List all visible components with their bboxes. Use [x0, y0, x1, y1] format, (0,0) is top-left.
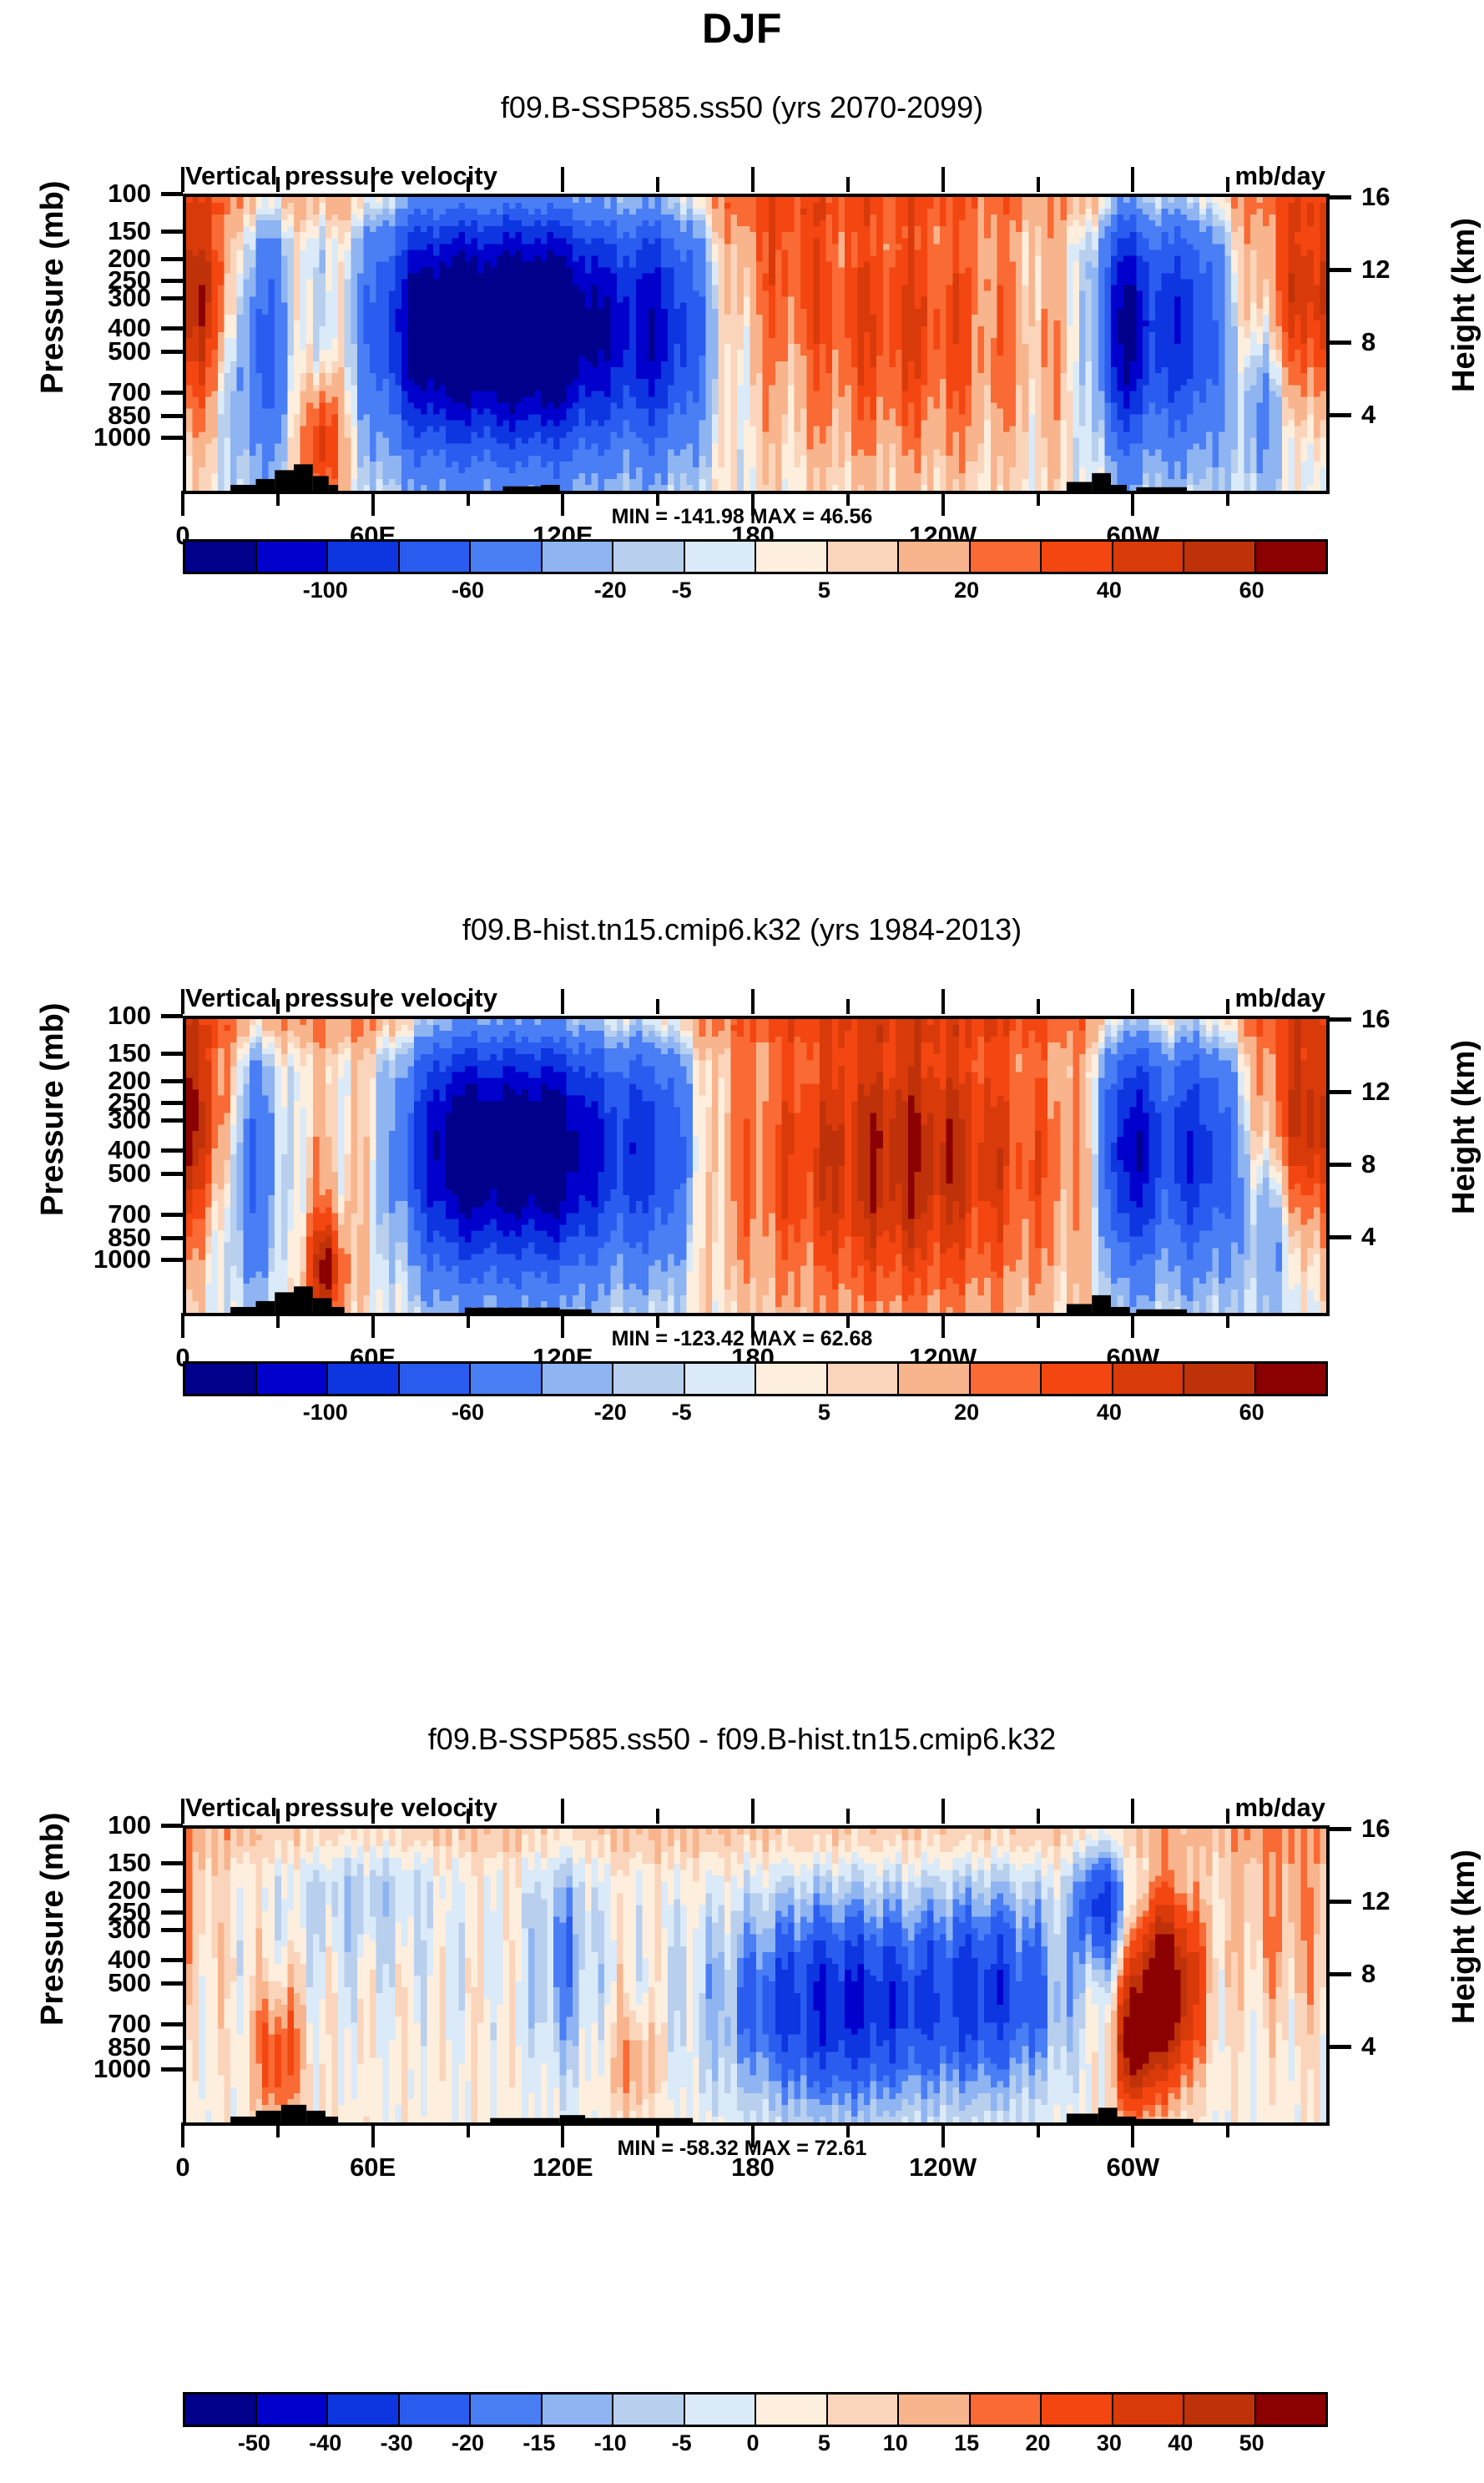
panel-2-xtick-minor-top [467, 999, 470, 1014]
panel-2-ytick-left [161, 1213, 183, 1217]
colorbar-tick-label: 20 [954, 1400, 979, 1426]
panel-2-colorbar[interactable] [183, 1361, 1328, 1396]
colorbar-tick-label: 30 [1097, 2430, 1122, 2456]
panel-3-ytick-left [161, 1889, 183, 1893]
colorbar-swatch [899, 1364, 971, 1394]
panel-1-xtick-minor-top [656, 177, 659, 192]
panel-1-ytick-label-left: 100 [8, 179, 151, 209]
panel-1-xtick-major-top [1131, 167, 1134, 192]
panel-2-title: f09.B-hist.tn15.cmip6.k32 (yrs 1984-2013… [0, 912, 1484, 947]
colorbar-swatch [471, 1364, 543, 1394]
panel-2-ytick-left [161, 1118, 183, 1123]
colorbar-swatch [828, 2395, 900, 2425]
panel-3-ytick-left [161, 1824, 183, 1828]
panel-3-ytick-left [161, 2067, 183, 2072]
panel-2-ytick-left [161, 1148, 183, 1153]
colorbar-swatch [1184, 542, 1256, 572]
panel-3-ytick-label-left: 1000 [8, 2054, 151, 2084]
colorbar-swatch [185, 2395, 257, 2425]
panel-3-xtick-major-top [1131, 1799, 1134, 1824]
colorbar-tick-label: -15 [522, 2430, 555, 2456]
colorbar-swatch [471, 542, 543, 572]
panel-2-xtick-minor [1037, 1313, 1040, 1328]
colorbar-swatch [1113, 2395, 1185, 2425]
colorbar-swatch [756, 1364, 828, 1394]
colorbar-swatch [971, 542, 1042, 572]
colorbar-tick-label: -100 [303, 578, 348, 603]
colorbar-swatch [328, 542, 400, 572]
panel-3-xtick-minor-top [846, 1809, 850, 1824]
colorbar-swatch [543, 542, 614, 572]
panel-3-ytick-left [161, 1981, 183, 1986]
panel-3-xtick-major-top [181, 1799, 184, 1824]
panel-2-ytick-label-left: 100 [8, 1001, 151, 1031]
panel-1-colorbar[interactable] [183, 539, 1328, 574]
colorbar-tick-label: 60 [1239, 1400, 1264, 1426]
panel-1-y-axis-title-right: Height (km) [1446, 218, 1482, 392]
panel-1-xtick-minor-top [1037, 177, 1040, 192]
panel-3-ytick-left [161, 1958, 183, 1962]
colorbar-swatch [400, 542, 472, 572]
panel-2-units-label: mb/day [1234, 983, 1325, 1013]
panel-3-xtick-minor-top [1037, 1809, 1040, 1824]
panel-1-ytick-label-right: 12 [1361, 255, 1390, 285]
colorbar-swatch [971, 2395, 1042, 2425]
panel-1-field-label: Vertical pressure velocity [185, 161, 497, 191]
panel-3-ytick-right [1330, 1972, 1351, 1976]
panel-3-ytick-label-left: 300 [8, 1915, 151, 1945]
colorbar-tick-label: -5 [672, 1400, 692, 1426]
panel-3-contour-field [186, 1829, 1326, 2122]
colorbar-tick-label: 40 [1097, 1400, 1122, 1426]
colorbar-swatch [685, 542, 757, 572]
panel-1-xtick-major-top [941, 167, 945, 192]
panel-3-xtick-minor [467, 2122, 470, 2137]
panel-2-xtick-major-top [1131, 989, 1134, 1014]
panel-1-ytick-right [1330, 341, 1351, 345]
panel-2-ytick-label-left: 500 [8, 1158, 151, 1189]
panel-1-ytick-label-left: 150 [8, 216, 151, 246]
colorbar-tick-label: -20 [594, 1400, 627, 1426]
colorbar-swatch [756, 542, 828, 572]
colorbar-tick-label: 10 [883, 2430, 908, 2456]
panel-1-xtick-minor-top [846, 177, 850, 192]
panel-3-xtick-major-top [371, 1799, 375, 1824]
colorbar-swatch [828, 1364, 900, 1394]
panel-1-ytick-left [161, 279, 183, 283]
panel-2-y-axis-title-right: Height (km) [1446, 1040, 1482, 1214]
panel-3-ytick-right [1330, 1827, 1351, 1831]
colorbar-swatch [400, 1364, 472, 1394]
panel-1-ytick-label-left: 300 [8, 283, 151, 313]
panel-1-ytick-left [161, 230, 183, 234]
panel-3-xtick-major-top [561, 1799, 564, 1824]
colorbar-swatch [1042, 1364, 1113, 1394]
colorbar-swatch [1256, 1364, 1326, 1394]
colorbar-swatch [1042, 542, 1113, 572]
panel-2-xtick-minor-top [1037, 999, 1040, 1014]
panel-3-y-axis-title-right: Height (km) [1446, 1850, 1482, 2024]
panel-3-ytick-label-left: 500 [8, 1968, 151, 1998]
panel-3-units-label: mb/day [1234, 1793, 1325, 1823]
colorbar-swatch [471, 2395, 543, 2425]
colorbar-tick-label: 5 [818, 1400, 830, 1426]
colorbar-swatch [899, 2395, 971, 2425]
panel-1-xtick-minor [1226, 491, 1229, 506]
panel-1-ytick-left [161, 192, 183, 196]
panel-1-ytick-label-right: 16 [1361, 182, 1390, 212]
panel-2-ytick-right [1330, 1163, 1351, 1167]
panel-1-ytick-label-right: 8 [1361, 327, 1375, 357]
colorbar-swatch [685, 2395, 757, 2425]
panel-1-xtick-minor-top [276, 177, 280, 192]
panel-2-xtick-minor [656, 1313, 659, 1328]
panel-2-xtick-major-top [371, 989, 375, 1014]
panel-1-xtick-minor [846, 491, 850, 506]
colorbar-swatch [828, 542, 900, 572]
panel-1-xtick-minor-top [1226, 177, 1229, 192]
colorbar-swatch [543, 1364, 614, 1394]
panel-3-xtick-minor-top [276, 1809, 280, 1824]
panel-3-ytick-left [161, 1861, 183, 1865]
colorbar-swatch [613, 2395, 685, 2425]
panel-3-xtick-minor [1037, 2122, 1040, 2137]
panel-1-ytick-left [161, 350, 183, 354]
panel-3-colorbar[interactable] [183, 2392, 1328, 2427]
panel-3-ytick-label-right: 12 [1361, 1886, 1390, 1916]
panel-2-ytick-left [161, 1079, 183, 1083]
colorbar-tick-label: 50 [1239, 2430, 1264, 2456]
colorbar-swatch [756, 2395, 828, 2425]
colorbar-tick-label: 20 [1025, 2430, 1050, 2456]
panel-2-xtick-major-top [561, 989, 564, 1014]
panel-3-xtick-major-top [941, 1799, 945, 1824]
colorbar-tick-label: -5 [672, 578, 692, 603]
panel-1-ytick-left [161, 436, 183, 440]
panel-2-xtick-minor [1226, 1313, 1229, 1328]
panel-1-units-label: mb/day [1234, 161, 1325, 191]
panel-1-xtick-minor [467, 491, 470, 506]
colorbar-swatch [1184, 1364, 1256, 1394]
panel-2-xtick-minor [467, 1313, 470, 1328]
panel-3-ytick-label-left: 150 [8, 1848, 151, 1878]
colorbar-swatch [400, 2395, 472, 2425]
colorbar-swatch [1184, 2395, 1256, 2425]
panel-1-title: f09.B-SSP585.ss50 (yrs 2070-2099) [0, 90, 1484, 125]
panel-3-ytick-left [161, 2046, 183, 2050]
figure-root: DJF f09.B-SSP585.ss50 (yrs 2070-2099) Ve… [0, 0, 1484, 2483]
colorbar-swatch [1113, 1364, 1185, 1394]
panel-2-ytick-right [1330, 1235, 1351, 1239]
panel-2-ytick-label-right: 8 [1361, 1149, 1375, 1179]
colorbar-swatch [185, 542, 257, 572]
colorbar-swatch [1256, 542, 1326, 572]
panel-3-ytick-right [1330, 2045, 1351, 2049]
panel-3-ytick-left [161, 2022, 183, 2026]
panel-2-ytick-label-right: 16 [1361, 1004, 1390, 1034]
panel-3-xtick-minor-top [1226, 1809, 1229, 1824]
colorbar-swatch [257, 542, 329, 572]
panel-2-ytick-label-right: 4 [1361, 1222, 1375, 1252]
colorbar-tick-label: -20 [594, 578, 627, 603]
panel-3-xtick-minor [846, 2122, 850, 2137]
panel-1-xtick-major-top [751, 167, 755, 192]
panel-2-ytick-left [161, 1101, 183, 1105]
panel-2-ytick-left [161, 1236, 183, 1240]
colorbar-swatch [971, 1364, 1042, 1394]
panel-3-plot-area[interactable] [183, 1825, 1330, 2126]
colorbar-swatch [613, 542, 685, 572]
panel-2-ytick-left [161, 1014, 183, 1018]
panel-1-xtick-minor-top [467, 177, 470, 192]
panel-1-minmax: MIN = -141.98 MAX = 46.56 [0, 505, 1484, 529]
panel-1-ytick-left [161, 326, 183, 331]
panel-1-ytick-left [161, 414, 183, 418]
panel-2-xtick-major-top [181, 989, 184, 1014]
panel-2-xtick-minor-top [276, 999, 280, 1014]
panel-1-ytick-right [1330, 195, 1351, 199]
panel-1-xtick-minor [276, 491, 280, 506]
panel-2-ytick-label-left: 150 [8, 1038, 151, 1068]
panel-2-xtick-minor-top [656, 999, 659, 1014]
panel-1-contour-field [186, 197, 1326, 491]
panel-1-xtick-minor [1037, 491, 1040, 506]
colorbar-tick-label: -100 [303, 1400, 348, 1426]
colorbar-swatch [257, 1364, 329, 1394]
panel-1-xtick-major-top [371, 167, 375, 192]
panel-3-ytick-left [161, 1910, 183, 1915]
colorbar-swatch [1113, 542, 1185, 572]
colorbar-tick-label: -20 [452, 2430, 484, 2456]
panel-1-ytick-label-left: 500 [8, 336, 151, 366]
panel-2-ytick-right [1330, 1090, 1351, 1094]
panel-3-ytick-label-right: 8 [1361, 1959, 1375, 1989]
colorbar-tick-label: -30 [381, 2430, 413, 2456]
panel-1-ytick-right [1330, 268, 1351, 272]
colorbar-swatch [685, 1364, 757, 1394]
panel-1-ytick-label-left: 1000 [8, 422, 151, 452]
panel-2-ytick-left [161, 1258, 183, 1262]
panel-3-xtick-minor-top [467, 1809, 470, 1824]
colorbar-tick-label: 0 [746, 2430, 759, 2456]
panel-1-ytick-left [161, 296, 183, 300]
panel-3-xtick-major-top [751, 1799, 755, 1824]
panel-1-xtick-minor [656, 491, 659, 506]
panel-3-ytick-right [1330, 1900, 1351, 1904]
panel-2-xtick-minor [276, 1313, 280, 1328]
panel-2-xtick-minor-top [1226, 999, 1229, 1014]
colorbar-tick-label: -60 [452, 578, 484, 603]
panel-2-field-label: Vertical pressure velocity [185, 983, 497, 1013]
panel-3-ytick-left [161, 1928, 183, 1932]
panel-2-ytick-left [161, 1052, 183, 1056]
panel-2-ytick-label-left: 1000 [8, 1244, 151, 1274]
panel-3-minmax: MIN = -58.32 MAX = 72.61 [0, 2137, 1484, 2161]
panel-1-ytick-label-right: 4 [1361, 400, 1375, 430]
panel-3-ytick-label-right: 16 [1361, 1814, 1390, 1844]
panel-3-title: f09.B-SSP585.ss50 - f09.B-hist.tn15.cmip… [0, 1722, 1484, 1757]
colorbar-tick-label: 20 [954, 578, 979, 603]
colorbar-tick-label: -50 [238, 2430, 270, 2456]
colorbar-tick-label: -10 [594, 2430, 627, 2456]
panel-1-ytick-left [161, 391, 183, 395]
panel-3-field-label: Vertical pressure velocity [185, 1793, 497, 1823]
panel-3-xtick-minor [1226, 2122, 1229, 2137]
colorbar-tick-label: -5 [672, 2430, 692, 2456]
panel-3-xtick-minor-top [656, 1809, 659, 1824]
panel-2-xtick-major-top [941, 989, 945, 1014]
colorbar-swatch [1042, 2395, 1113, 2425]
colorbar-swatch [543, 2395, 614, 2425]
panel-1-ytick-left [161, 257, 183, 261]
colorbar-swatch [1256, 2395, 1326, 2425]
colorbar-tick-label: -60 [452, 1400, 484, 1426]
panel-3-ytick-label-left: 100 [8, 1810, 151, 1840]
panel-2-contour-field [186, 1019, 1326, 1313]
panel-2-ytick-label-right: 12 [1361, 1077, 1390, 1107]
figure-suptitle: DJF [0, 4, 1484, 53]
panel-2-xtick-minor [846, 1313, 850, 1328]
colorbar-tick-label: 40 [1168, 2430, 1193, 2456]
panel-2-minmax: MIN = -123.42 MAX = 62.68 [0, 1327, 1484, 1351]
panel-2-ytick-label-left: 300 [8, 1105, 151, 1135]
colorbar-swatch [613, 1364, 685, 1394]
colorbar-tick-label: 15 [954, 2430, 979, 2456]
panel-3-xtick-minor [276, 2122, 280, 2137]
colorbar-tick-label: -40 [309, 2430, 341, 2456]
panel-1-ytick-right [1330, 413, 1351, 417]
colorbar-tick-label: 5 [818, 2430, 830, 2456]
colorbar-tick-label: 40 [1097, 578, 1122, 603]
panel-2-ytick-right [1330, 1017, 1351, 1022]
panel-3-xtick-minor [656, 2122, 659, 2137]
panel-3-ytick-label-right: 4 [1361, 2031, 1375, 2062]
colorbar-swatch [899, 542, 971, 572]
colorbar-swatch [257, 2395, 329, 2425]
panel-1-plot-area[interactable] [183, 194, 1330, 494]
panel-1-xtick-major-top [561, 167, 564, 192]
panel-2-xtick-major-top [751, 989, 755, 1014]
colorbar-swatch [328, 1364, 400, 1394]
colorbar-swatch [185, 1364, 257, 1394]
colorbar-swatch [328, 2395, 400, 2425]
panel-1-xtick-major-top [181, 167, 184, 192]
colorbar-tick-label: 60 [1239, 578, 1264, 603]
panel-2-ytick-left [161, 1172, 183, 1176]
panel-2-xtick-minor-top [846, 999, 850, 1014]
panel-2-plot-area[interactable] [183, 1016, 1330, 1316]
colorbar-tick-label: 5 [818, 578, 830, 603]
